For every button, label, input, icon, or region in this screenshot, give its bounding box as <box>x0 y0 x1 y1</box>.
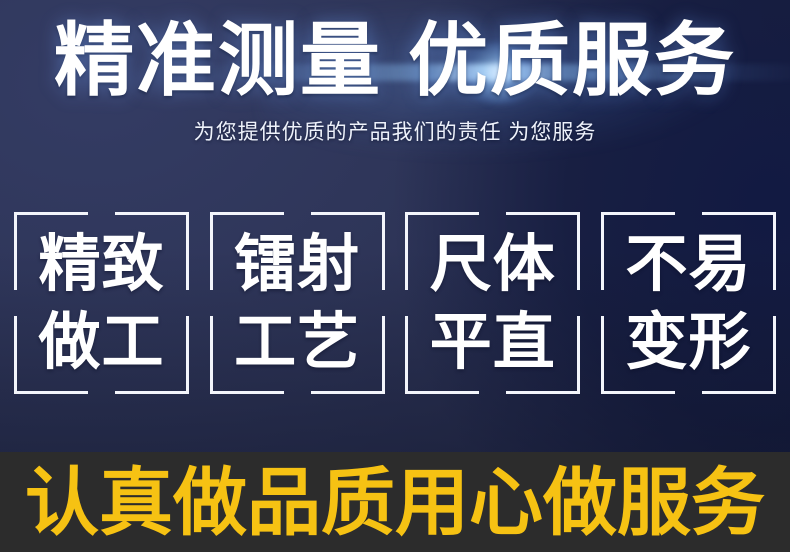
headline-part-2: 优质服务 <box>408 20 736 102</box>
promotional-banner: 精准测量优质服务 为您提供优质的产品我们的责任 为您服务 精致 做工 镭射 <box>0 0 790 552</box>
feature-box-text: 尺体 平直 <box>405 226 580 382</box>
footer-slogan-bar: 认真做品质用心做服务 <box>0 452 790 552</box>
feature-box-text: 精致 做工 <box>14 226 189 382</box>
feature-box-line-2: 工艺 <box>210 304 385 382</box>
feature-box-text: 镭射 工艺 <box>210 226 385 382</box>
feature-box: 尺体 平直 <box>405 212 580 394</box>
feature-box-line-1: 不易 <box>601 226 776 304</box>
headline: 精准测量优质服务 <box>0 20 790 102</box>
feature-box-text: 不易 变形 <box>601 226 776 382</box>
feature-box-list: 精致 做工 镭射 工艺 尺体 <box>14 212 776 394</box>
feature-box: 不易 变形 <box>601 212 776 394</box>
feature-box: 精致 做工 <box>14 212 189 394</box>
feature-box-line-1: 尺体 <box>405 226 580 304</box>
feature-box-line-2: 做工 <box>14 304 189 382</box>
footer-slogan-text: 认真做品质用心做服务 <box>0 456 790 550</box>
banner-hero-stage: 精准测量优质服务 为您提供优质的产品我们的责任 为您服务 精致 做工 镭射 <box>0 0 790 452</box>
feature-box-line-1: 镭射 <box>210 226 385 304</box>
subheadline: 为您提供优质的产品我们的责任 为您服务 <box>0 120 790 145</box>
headline-part-1: 精准测量 <box>54 16 382 105</box>
feature-box-line-2: 变形 <box>601 304 776 382</box>
feature-box-line-2: 平直 <box>405 304 580 382</box>
feature-box: 镭射 工艺 <box>210 212 385 394</box>
feature-box-line-1: 精致 <box>14 226 189 304</box>
